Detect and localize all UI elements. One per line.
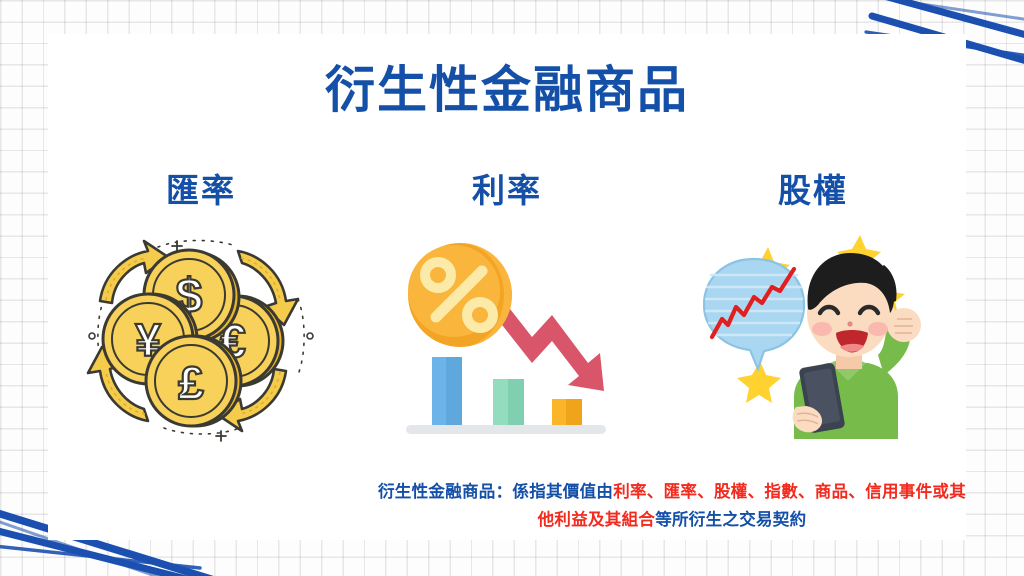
column-heading-equity: 股權: [778, 174, 848, 207]
percent-coin-icon: [408, 243, 512, 347]
definition-caption: 衍生性金融商品：係指其價值由利率、匯率、股權、指數、商品、信用事件或其他利益及其…: [378, 478, 966, 535]
category-columns: 匯率: [48, 174, 966, 484]
caption-line1-blue: 衍生性金融商品：係指其價值由: [378, 483, 613, 501]
bar-chart: [432, 357, 582, 425]
category-column-exchange-rate: 匯率: [48, 174, 354, 484]
slide-root: 衍生性金融商品 匯率: [0, 0, 1024, 576]
category-column-interest-rate: 利率: [354, 174, 660, 484]
chart-baseline: [406, 425, 606, 434]
caption-line1-red: 利率、匯率、股權、指數、商: [613, 483, 831, 501]
interest-rate-decline-icon: [392, 229, 622, 444]
speech-bubble-with-stock-chart: [704, 259, 804, 369]
category-column-equity: 股權: [660, 174, 966, 484]
currency-coins-exchange-icon: € $ ¥: [86, 229, 316, 444]
page-title: 衍生性金融商品: [48, 63, 966, 118]
svg-text:£: £: [178, 357, 204, 409]
coin-group: € $ ¥: [103, 250, 283, 426]
column-heading-interest-rate: 利率: [472, 174, 542, 207]
person-figure: [793, 253, 921, 439]
caption-line2-blue: 等所衍生之交易契約: [655, 511, 806, 529]
column-heading-exchange-rate: 匯率: [166, 174, 236, 207]
content-card: 衍生性金融商品 匯率: [48, 34, 966, 540]
investor-with-smartphone-icon: [698, 229, 928, 444]
